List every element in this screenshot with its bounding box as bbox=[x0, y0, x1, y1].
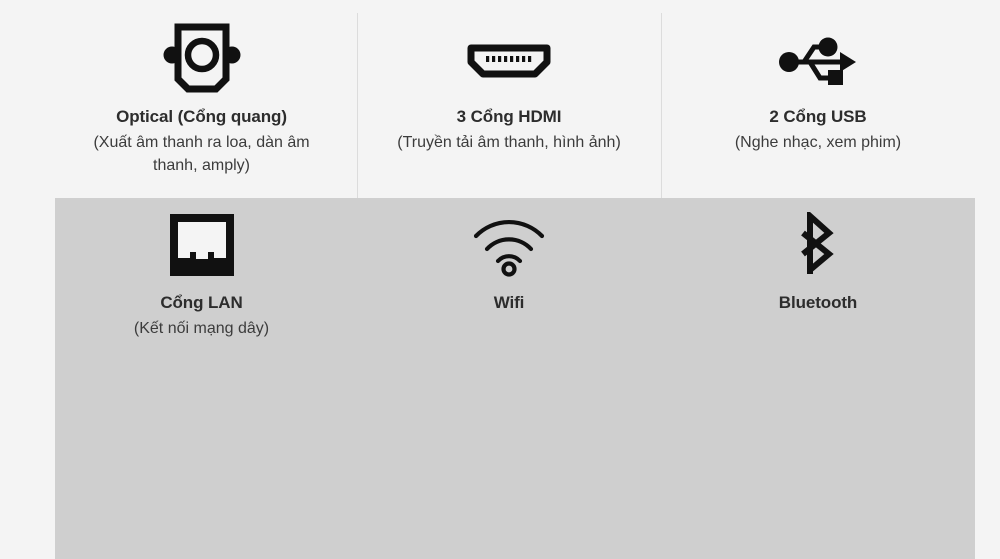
wifi-icon bbox=[470, 212, 548, 278]
feature-cell-wifi: Wifi bbox=[357, 198, 661, 358]
lan-port-icon bbox=[167, 212, 237, 278]
feature-subtitle: (Truyền tải âm thanh, hình ảnh) bbox=[397, 131, 621, 154]
feature-cell-empty-3 bbox=[661, 358, 975, 559]
feature-title: Bluetooth bbox=[779, 292, 857, 314]
feature-title: 3 Cổng HDMI bbox=[457, 106, 562, 128]
feature-title: Optical (Cổng quang) bbox=[116, 106, 287, 128]
connectivity-feature-grid: Optical (Cổng quang) (Xuất âm thanh ra l… bbox=[0, 0, 1000, 559]
feature-cell-usb: 2 Cổng USB (Nghe nhạc, xem phim) bbox=[661, 0, 975, 198]
feature-title: Wifi bbox=[494, 292, 525, 314]
feature-subtitle: (Nghe nhạc, xem phim) bbox=[735, 131, 901, 154]
optical-port-icon bbox=[159, 22, 245, 94]
feature-cell-empty-1 bbox=[46, 358, 357, 559]
hdmi-port-icon bbox=[461, 22, 557, 94]
feature-cell-empty-2 bbox=[357, 358, 661, 559]
feature-cell-lan: Cổng LAN (Kết nối mạng dây) bbox=[46, 198, 357, 358]
feature-subtitle: (Xuất âm thanh ra loa, dàn âm thanh, amp… bbox=[72, 131, 332, 177]
feature-cell-hdmi: 3 Cổng HDMI (Truyền tải âm thanh, hình ả… bbox=[357, 0, 661, 198]
feature-cell-optical: Optical (Cổng quang) (Xuất âm thanh ra l… bbox=[46, 0, 357, 198]
feature-title: Cổng LAN bbox=[160, 292, 242, 314]
feature-title: 2 Cổng USB bbox=[769, 106, 866, 128]
usb-port-icon bbox=[776, 22, 860, 94]
feature-cell-bluetooth: Bluetooth bbox=[661, 198, 975, 358]
feature-subtitle: (Kết nối mạng dây) bbox=[134, 317, 269, 340]
bluetooth-icon bbox=[791, 212, 845, 278]
